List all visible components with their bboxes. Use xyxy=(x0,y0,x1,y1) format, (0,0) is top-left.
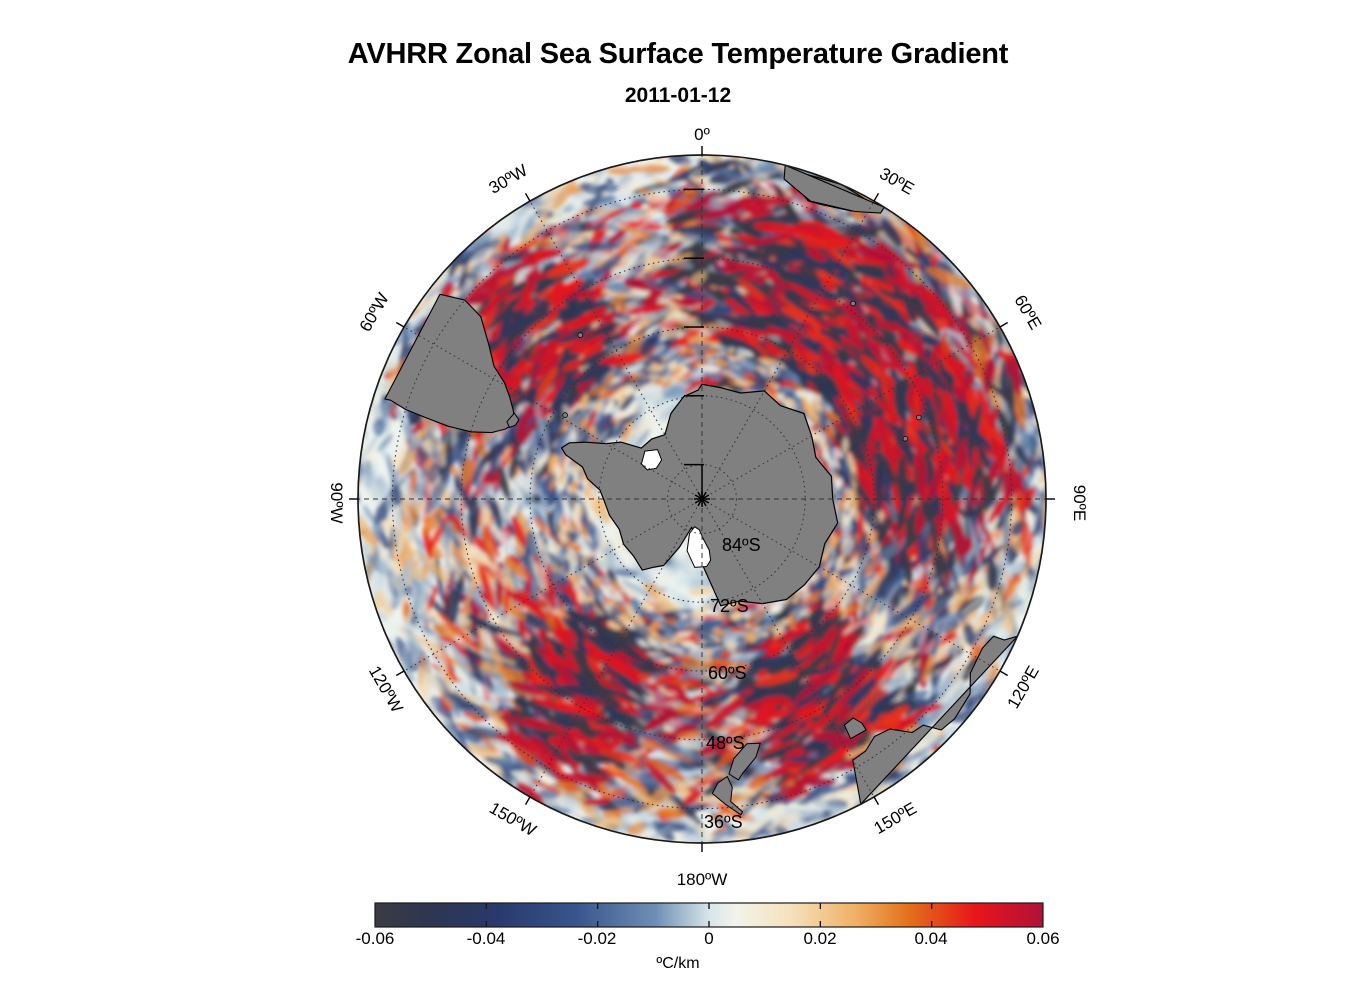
colorbar-unit-label: ºC/km xyxy=(0,955,1356,973)
lon-label-0: 0º xyxy=(694,125,710,144)
lat-label-60s: 60ºS xyxy=(708,663,747,683)
lat-label-84s: 84ºS xyxy=(722,535,761,555)
lon-label-60e: 60ºE xyxy=(1010,292,1045,333)
lat-label-72s: 72ºS xyxy=(710,596,749,616)
colorbar-tick-3: 0 xyxy=(664,929,754,949)
lon-label-120w: 120ºW xyxy=(365,663,407,716)
lon-label-30w: 30ºW xyxy=(486,161,531,198)
colorbar-tick-5: 0.04 xyxy=(886,929,976,949)
lon-label-90e: 90ºE xyxy=(1070,485,1089,521)
colorbar-tick-2: -0.02 xyxy=(552,929,642,949)
lon-label-90w: 90ºW xyxy=(327,482,346,523)
polar-map[interactable]: 84ºS 72ºS 60ºS 48ºS 36ºS 0º 30ºE 60ºE 90… xyxy=(0,0,1356,890)
lat-label-48s: 48ºS xyxy=(706,733,745,753)
lon-label-150w: 150ºW xyxy=(486,798,539,840)
colorbar-tick-1: -0.04 xyxy=(441,929,531,949)
figure-canvas: AVHRR Zonal Sea Surface Temperature Grad… xyxy=(0,0,1356,1000)
colorbar-tick-0: -0.06 xyxy=(330,929,420,949)
colorbar-tick-6: 0.06 xyxy=(998,929,1088,949)
lon-label-60w: 60ºW xyxy=(356,290,393,335)
lon-label-180: 180ºW xyxy=(677,870,728,889)
lon-label-30e: 30ºE xyxy=(876,164,917,199)
polar-stereographic-plot[interactable]: 84ºS 72ºS 60ºS 48ºS 36ºS 0º 30ºE 60ºE 90… xyxy=(0,0,1356,890)
colorbar[interactable]: -0.06 -0.04 -0.02 0 0.02 0.04 0.06 ºC/km xyxy=(0,895,1356,1000)
lat-label-36s: 36ºS xyxy=(704,812,743,832)
colorbar-tick-4: 0.02 xyxy=(775,929,865,949)
lon-label-120e: 120ºE xyxy=(1004,663,1043,712)
